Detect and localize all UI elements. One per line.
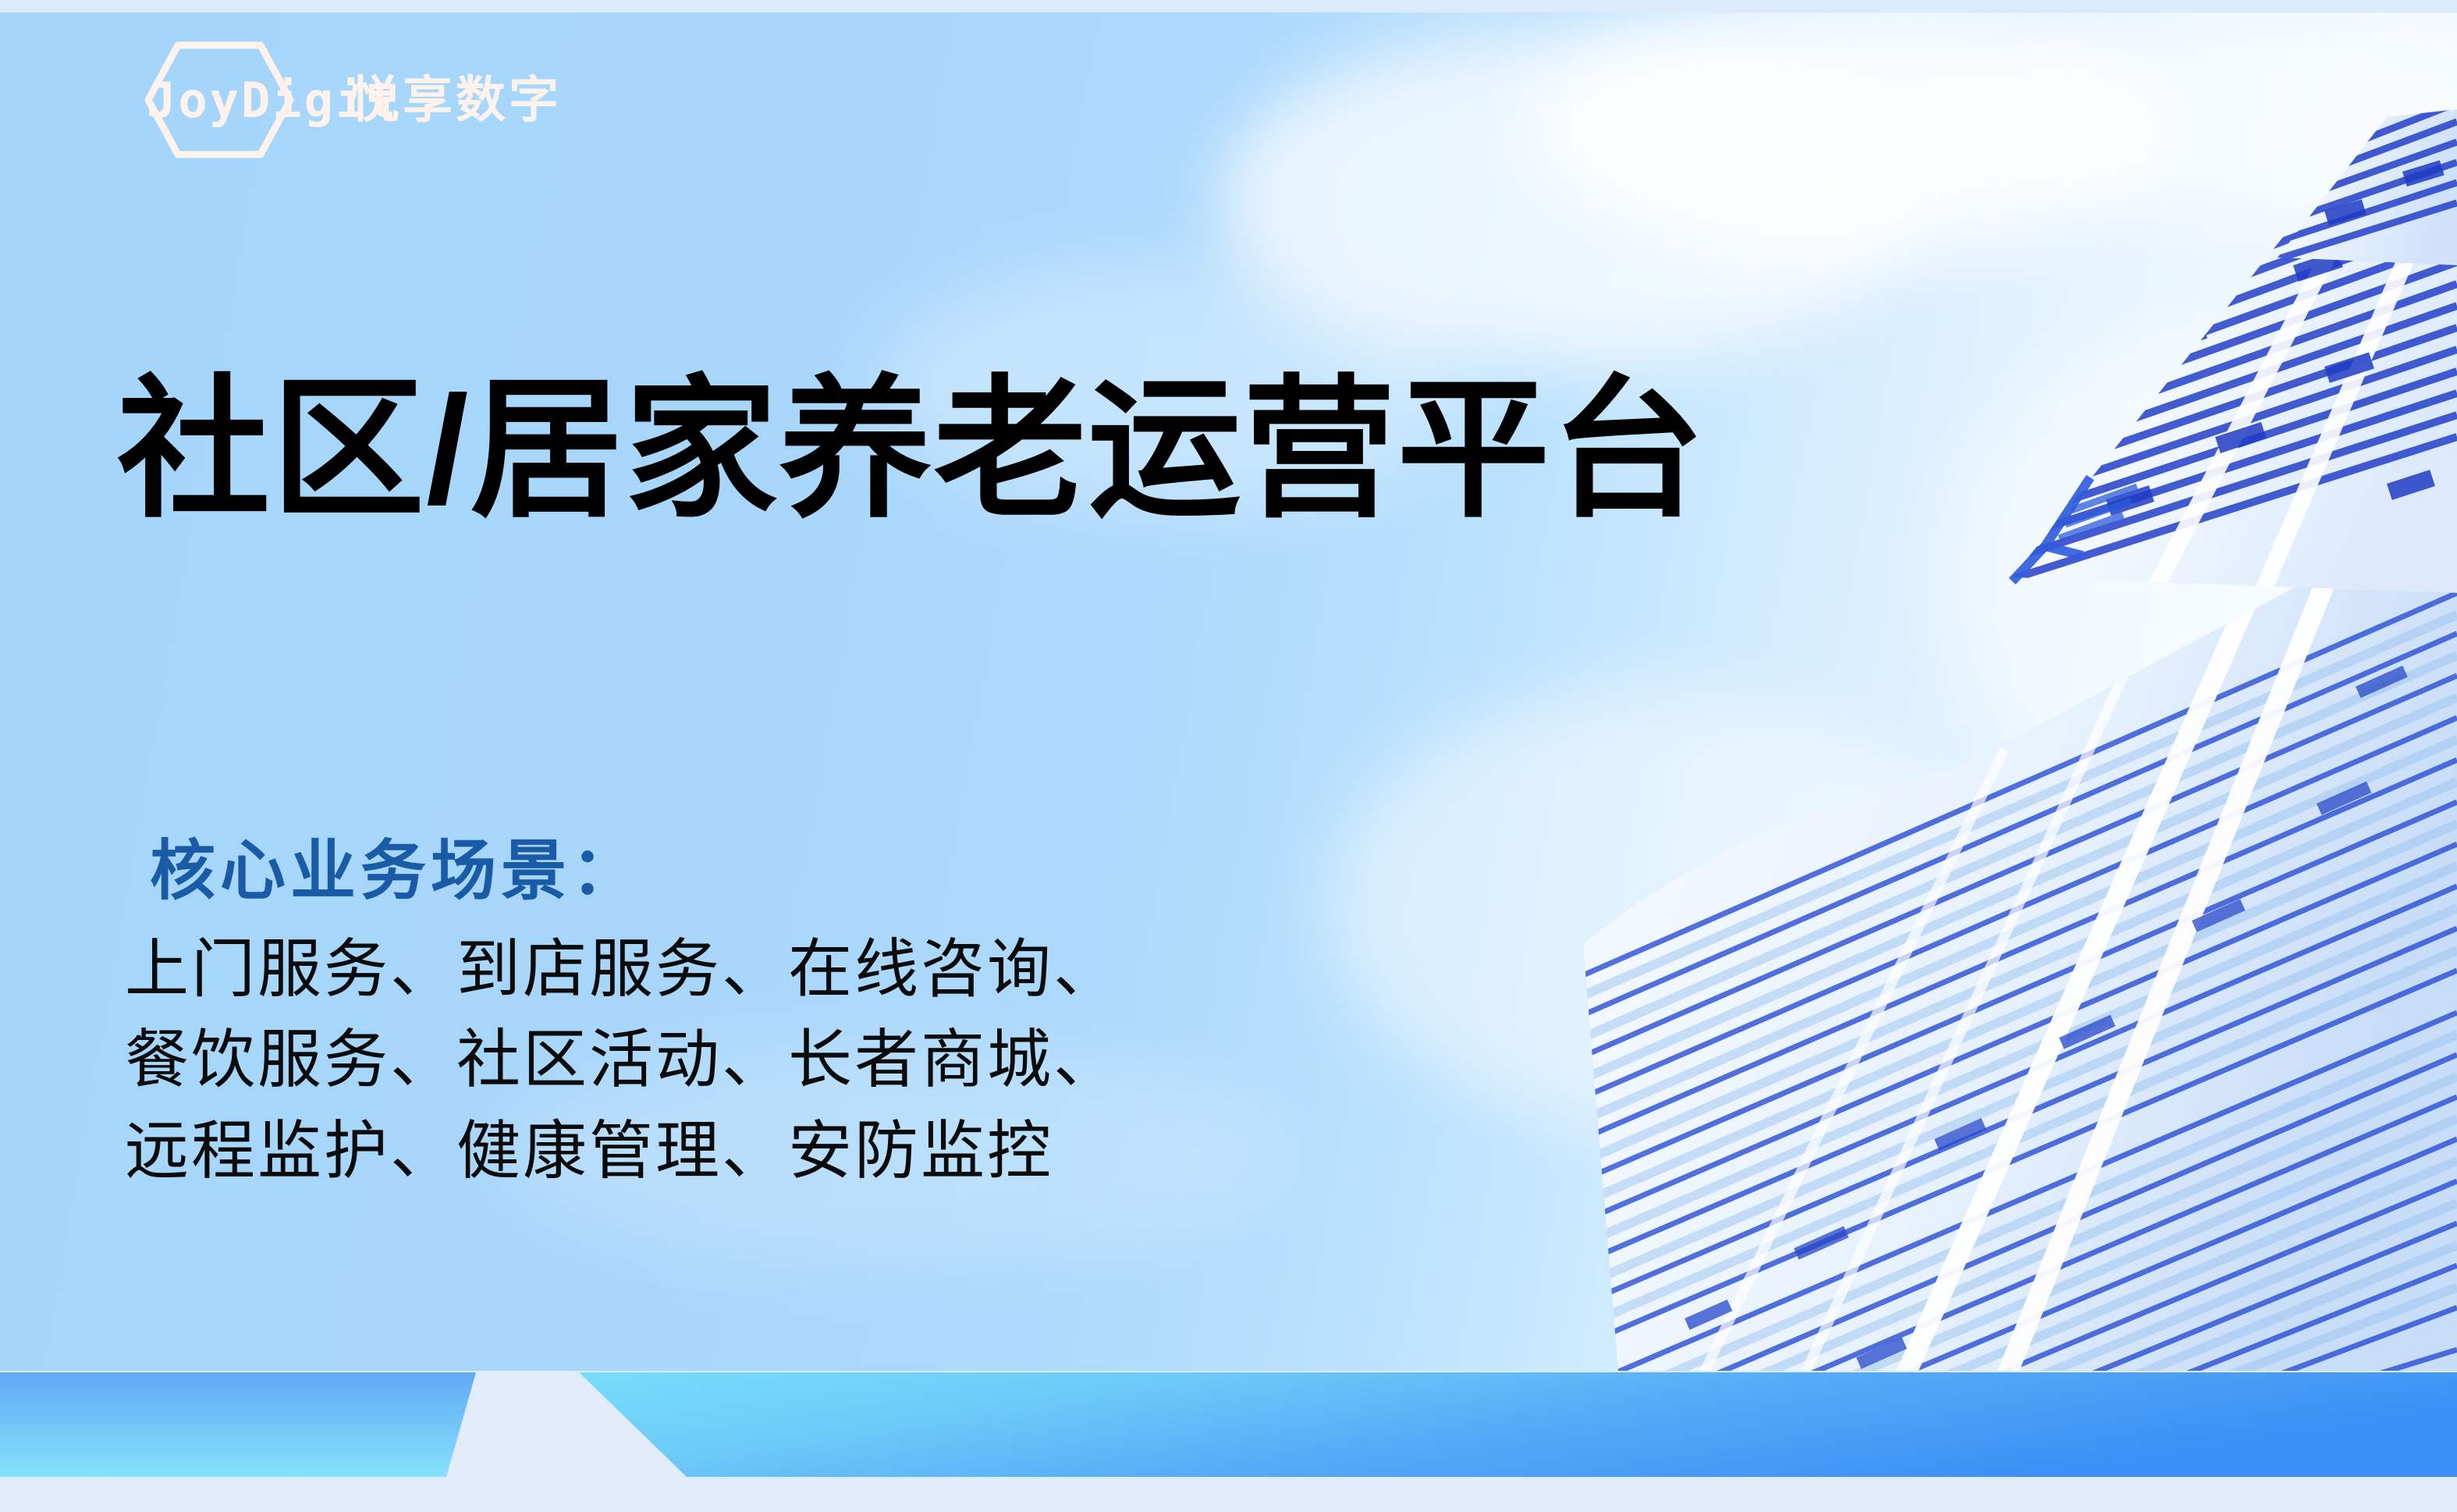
bottom-decorative-band [0, 1371, 2457, 1512]
band-shapes [0, 1371, 2457, 1512]
page-title: 社区/居家养老运营平台 [117, 367, 1706, 533]
brand-logo: JoyDigit 悦享数字 [137, 69, 562, 131]
logo-wordmark: JoyDigit [147, 76, 399, 125]
top-edge-strip [0, 0, 2457, 12]
scenario-line: 远程监护、健康管理、安防监控 [125, 1106, 1120, 1197]
skyscraper-photo [1466, 0, 2457, 1381]
slide-canvas: JoyDigit 悦享数字 社区/居家养老运营平台 核心业务场景： 上门服务、到… [0, 0, 2457, 1512]
section-heading: 核心业务场景： [150, 835, 641, 907]
skyscraper-illustration [1466, 0, 2457, 1381]
hexagon-outline-icon: JoyDigit [137, 41, 301, 159]
scenario-line: 餐饮服务、社区活动、长者商城、 [125, 1015, 1120, 1106]
scenario-list: 上门服务、到店服务、在线咨询、 餐饮服务、社区活动、长者商城、 远程监护、健康管… [125, 925, 1120, 1197]
scenario-line: 上门服务、到店服务、在线咨询、 [125, 925, 1120, 1015]
